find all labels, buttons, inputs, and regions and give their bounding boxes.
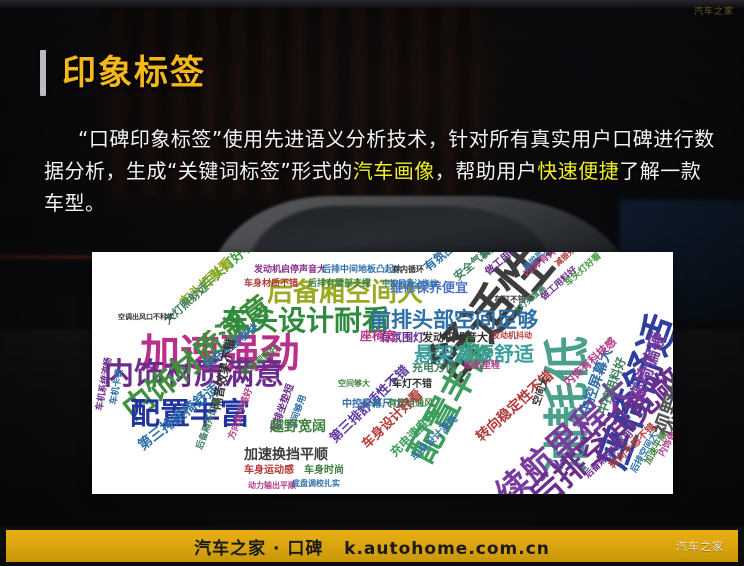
paragraph-line1: “口碑印象标签”使用先进语义分析技术，针对所有真实用户 xyxy=(78,127,612,151)
word-cloud-term: 动力输出平顺 xyxy=(248,482,296,490)
slide-root: 汽车之家 印象标签 “口碑印象标签”使用先进语义分析技术，针对所有真实用户口碑进… xyxy=(0,0,744,566)
top-watermark: 汽车之家 xyxy=(694,4,734,17)
word-cloud-term: 续航里程 xyxy=(464,362,500,371)
description-paragraph: “口碑印象标签”使用先进语义分析技术，针对所有真实用户口碑进行数据分析，生成“关… xyxy=(44,123,716,219)
footer-band: 汽车之家 · 口碑 k.autohome.com.cn 汽车之家 xyxy=(0,526,744,566)
word-cloud-term: 加速换挡平顺 xyxy=(244,448,328,462)
word-cloud-term: 后排中间地板凸起大 xyxy=(322,266,403,275)
word-cloud-term: 有内循环 xyxy=(392,266,424,274)
word-cloud-term: 车身时尚 xyxy=(304,466,344,476)
word-cloud-term: 充电方便 xyxy=(412,362,456,373)
footer-url: k.autohome.com.cn xyxy=(344,539,550,559)
paragraph-highlight-fast: 快速便捷 xyxy=(537,159,619,183)
word-cloud-term: 发动机噪音大 xyxy=(422,332,488,343)
paragraph-line3a: 帮助用户 xyxy=(455,159,537,183)
word-cloud-term: 车身材质不错 xyxy=(244,280,298,289)
title-accent-bar xyxy=(40,50,46,96)
word-cloud-term: 空间够大 xyxy=(338,380,370,388)
word-cloud-term: 发动机启停声音大 xyxy=(254,266,326,275)
footer-watermark: 汽车之家 xyxy=(676,538,724,554)
word-cloud-term: 后排有腰部支撑 xyxy=(308,280,371,289)
word-cloud-term: 座椅宽 xyxy=(360,330,396,342)
word-cloud-term: 前排头部空间足够 xyxy=(370,310,538,331)
word-cloud-term: 中控屏易沾指纹 xyxy=(382,280,438,288)
paragraph-line2b: ， xyxy=(435,159,456,183)
footer-brand: 汽车之家 · 口碑 xyxy=(194,539,323,559)
word-cloud-stage: 舒适性不错加速强劲油耗低座椅舒适内饰材质满意内饰材质满意配置丰富车头设计耐看后备… xyxy=(92,252,673,494)
word-cloud-term: 底盘调校扎实 xyxy=(292,480,340,488)
word-cloud-term: 发动机抖动 xyxy=(492,332,532,340)
word-cloud-panel: 舒适性不错加速强劲油耗低座椅舒适内饰材质满意内饰材质满意配置丰富车头设计耐看后备… xyxy=(92,252,673,494)
title-label: 印象标签 xyxy=(62,56,206,90)
word-cloud-term: 越野宽阔 xyxy=(270,420,326,434)
paragraph-highlight-portrait: 汽车画像 xyxy=(353,159,435,183)
footer-brand-url: 汽车之家 · 口碑 k.autohome.com.cn xyxy=(194,534,550,559)
word-cloud-term: 车身运动感 xyxy=(244,466,294,476)
background-top-edge xyxy=(0,0,744,8)
footer-bar: 汽车之家 · 口碑 k.autohome.com.cn 汽车之家 xyxy=(6,530,738,562)
page-title: 印象标签 xyxy=(40,50,206,96)
word-cloud-term: 空调出风口不科学 xyxy=(118,314,174,321)
